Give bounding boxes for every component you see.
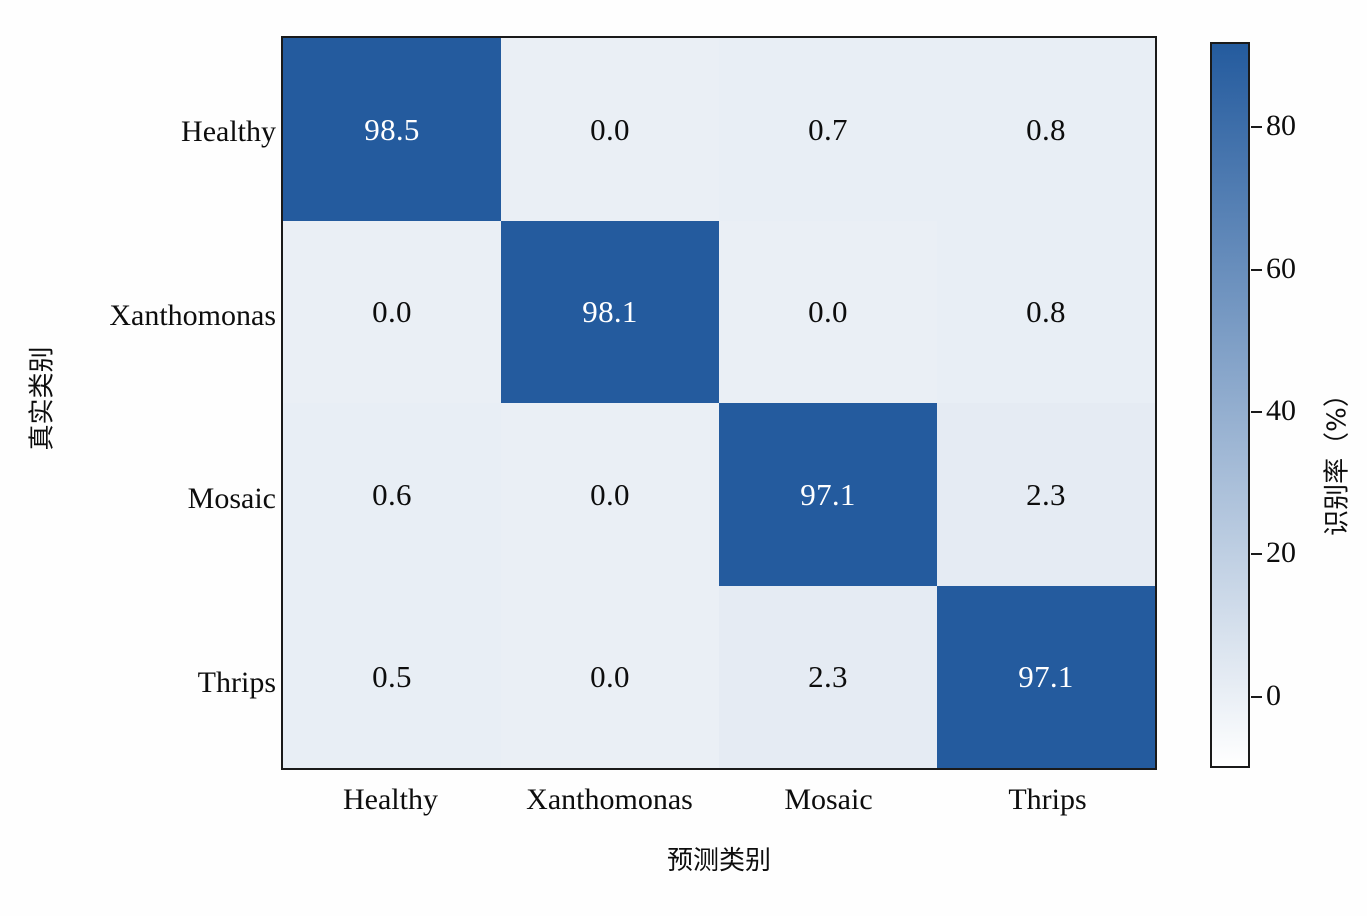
heatmap-cell: 0.5: [283, 586, 501, 769]
heatmap-cell: 98.5: [283, 38, 501, 221]
colorbar-tick-label: 60: [1266, 254, 1296, 284]
colorbar-tick: [1251, 411, 1262, 413]
cell-value: 2.3: [808, 661, 848, 692]
heatmap-cell: 97.1: [937, 586, 1155, 769]
cell-value: 2.3: [1026, 479, 1066, 510]
colorbar-tick-label: 20: [1266, 538, 1296, 568]
colorbar-tick: [1251, 696, 1262, 698]
cell-value: 0.7: [808, 114, 848, 145]
colorbar-tick: [1251, 553, 1262, 555]
colorbar-gradient: [1210, 42, 1250, 768]
heatmap-cell: 0.0: [501, 38, 719, 221]
heatmap-cell: 0.7: [719, 38, 937, 221]
cell-value: 0.0: [590, 114, 630, 145]
x-tick-label-xanthomonas: Xanthomonas: [500, 785, 719, 815]
y-tick-label-healthy: Healthy: [16, 117, 276, 147]
cell-value: 0.0: [590, 661, 630, 692]
cell-value: 0.6: [372, 479, 412, 510]
x-tick-label-healthy: Healthy: [281, 785, 500, 815]
heatmap-grid: 98.5 0.0 0.7 0.8 0.0 98.1 0.0 0.8 0.6 0.…: [283, 38, 1155, 768]
heatmap-cell: 98.1: [501, 221, 719, 404]
heatmap-cell: 0.0: [501, 403, 719, 586]
heatmap-cell: 0.0: [719, 221, 937, 404]
cell-value: 97.1: [1018, 661, 1073, 692]
heatmap-plot-area: 98.5 0.0 0.7 0.8 0.0 98.1 0.0 0.8 0.6 0.…: [281, 36, 1157, 770]
y-tick-label-thrips: Thrips: [16, 668, 276, 698]
cell-value: 0.5: [372, 661, 412, 692]
x-tick-label-mosaic: Mosaic: [719, 785, 938, 815]
x-axis-title: 预测类别: [281, 840, 1157, 877]
colorbar: [1210, 42, 1250, 768]
heatmap-cell: 0.0: [283, 221, 501, 404]
heatmap-cell: 0.8: [937, 221, 1155, 404]
cell-value: 98.1: [582, 296, 637, 327]
colorbar-tick-label: 0: [1266, 681, 1281, 711]
cell-value: 0.0: [590, 479, 630, 510]
confusion-matrix-figure: 真实类别 Healthy Xanthomonas Mosaic Thrips 9…: [0, 0, 1367, 916]
cell-value: 0.8: [1026, 296, 1066, 327]
colorbar-tick: [1251, 269, 1262, 271]
cell-value: 0.0: [372, 296, 412, 327]
x-tick-label-thrips: Thrips: [938, 785, 1157, 815]
cell-value: 97.1: [800, 479, 855, 510]
cell-value: 0.0: [808, 296, 848, 327]
heatmap-cell: 97.1: [719, 403, 937, 586]
colorbar-tick-label: 80: [1266, 111, 1296, 141]
heatmap-cell: 0.0: [501, 586, 719, 769]
heatmap-cell: 0.6: [283, 403, 501, 586]
colorbar-tick-label: 40: [1266, 396, 1296, 426]
heatmap-cell: 0.8: [937, 38, 1155, 221]
cell-value: 0.8: [1026, 114, 1066, 145]
y-tick-label-xanthomonas: Xanthomonas: [16, 301, 276, 331]
cell-value: 98.5: [364, 114, 419, 145]
heatmap-cell: 2.3: [719, 586, 937, 769]
heatmap-cell: 2.3: [937, 403, 1155, 586]
colorbar-title: 识别率（%）: [1317, 339, 1354, 579]
y-tick-label-mosaic: Mosaic: [16, 484, 276, 514]
colorbar-tick: [1251, 126, 1262, 128]
